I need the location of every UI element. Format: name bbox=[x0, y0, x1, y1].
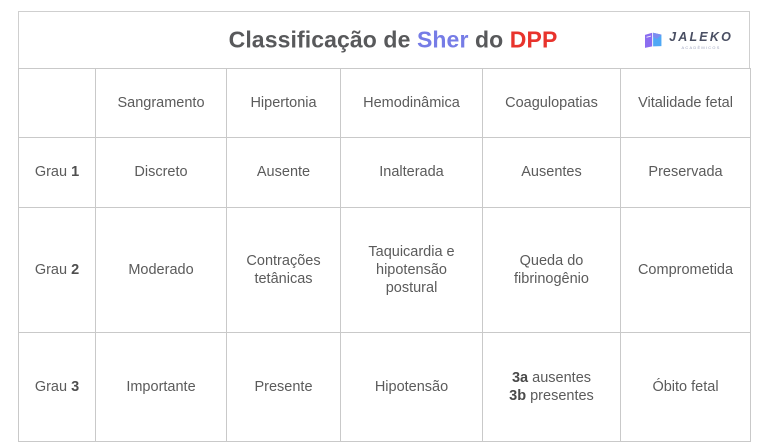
column-header-hipertonia: Hipertonia bbox=[227, 69, 341, 138]
row-label-number: 3 bbox=[71, 379, 79, 395]
cell-grau1-sangramento: Discreto bbox=[96, 138, 227, 208]
subtype-label: 3a bbox=[512, 370, 528, 386]
row-label-prefix: Grau bbox=[35, 262, 71, 278]
row-label-grau-3: Grau 3 bbox=[19, 333, 96, 442]
logo-wordmark: JALEKO ACADÊMICOS bbox=[669, 31, 733, 49]
slide-canvas: Classificação de Sher do DPP JALEKO ACAD… bbox=[0, 0, 768, 432]
cell-line: fibrinogênio bbox=[487, 270, 616, 288]
row-label-prefix: Grau bbox=[35, 379, 71, 395]
cell-grau1-hemodinamica: Inalterada bbox=[341, 138, 483, 208]
cell-grau3-vitalidade: Óbito fetal bbox=[621, 333, 751, 442]
row-label-number: 1 bbox=[71, 164, 79, 180]
title-part-before: Classificação de bbox=[229, 27, 417, 53]
cell-grau3-hemodinamica: Hipotensão bbox=[341, 333, 483, 442]
table-row: Grau 1 Discreto Ausente Inalterada Ausen… bbox=[19, 138, 751, 208]
cell-grau1-hipertonia: Ausente bbox=[227, 138, 341, 208]
cell-line: tetânicas bbox=[231, 270, 336, 288]
cell-grau3-hipertonia: Presente bbox=[227, 333, 341, 442]
cell-grau3-coagulopatias: 3a ausentes 3b presentes bbox=[483, 333, 621, 442]
subtype-value: presentes bbox=[526, 388, 594, 404]
cell-grau1-coagulopatias: Ausentes bbox=[483, 138, 621, 208]
logo-name: JALEKO bbox=[669, 31, 733, 44]
cell-line: hipotensão bbox=[345, 261, 478, 279]
cell-line: Contrações bbox=[231, 252, 336, 270]
row-label-number: 2 bbox=[71, 262, 79, 278]
table-row: Grau 2 Moderado Contrações tetânicas Taq… bbox=[19, 208, 751, 333]
cell-line: Taquicardia e bbox=[345, 243, 478, 261]
cell-grau1-vitalidade: Preservada bbox=[621, 138, 751, 208]
open-book-icon bbox=[644, 32, 663, 49]
logo-subtitle: ACADÊMICOS bbox=[681, 45, 720, 49]
column-header-sangramento: Sangramento bbox=[96, 69, 227, 138]
cell-line: postural bbox=[345, 279, 478, 297]
cell-line: 3b presentes bbox=[487, 387, 616, 405]
cell-grau2-vitalidade: Comprometida bbox=[621, 208, 751, 333]
column-header-coagulopatias: Coagulopatias bbox=[483, 69, 621, 138]
cell-line: 3a ausentes bbox=[487, 369, 616, 387]
cell-grau2-sangramento: Moderado bbox=[96, 208, 227, 333]
cell-grau3-sangramento: Importante bbox=[96, 333, 227, 442]
brand-logo: JALEKO ACADÊMICOS bbox=[644, 31, 733, 49]
cell-grau2-coagulopatias: Queda do fibrinogênio bbox=[483, 208, 621, 333]
title-bar: Classificação de Sher do DPP JALEKO ACAD… bbox=[18, 11, 750, 68]
classification-table: Sangramento Hipertonia Hemodinâmica Coag… bbox=[18, 68, 751, 442]
page-title: Classificação de Sher do DPP bbox=[19, 27, 749, 54]
cell-grau2-hemodinamica: Taquicardia e hipotensão postural bbox=[341, 208, 483, 333]
row-label-grau-2: Grau 2 bbox=[19, 208, 96, 333]
title-part-middle: do bbox=[469, 27, 510, 53]
title-highlight-sher: Sher bbox=[417, 27, 469, 53]
row-label-prefix: Grau bbox=[35, 164, 71, 180]
cell-line: Queda do bbox=[487, 252, 616, 270]
table-row: Grau 3 Importante Presente Hipotensão 3a… bbox=[19, 333, 751, 442]
subtype-value: ausentes bbox=[528, 370, 591, 386]
column-header-vitalidade-fetal: Vitalidade fetal bbox=[621, 69, 751, 138]
table-corner-cell bbox=[19, 69, 96, 138]
subtype-label: 3b bbox=[509, 388, 526, 404]
table-header-row: Sangramento Hipertonia Hemodinâmica Coag… bbox=[19, 69, 751, 138]
title-highlight-dpp: DPP bbox=[510, 27, 558, 53]
column-header-hemodinamica: Hemodinâmica bbox=[341, 69, 483, 138]
cell-grau2-hipertonia: Contrações tetânicas bbox=[227, 208, 341, 333]
row-label-grau-1: Grau 1 bbox=[19, 138, 96, 208]
